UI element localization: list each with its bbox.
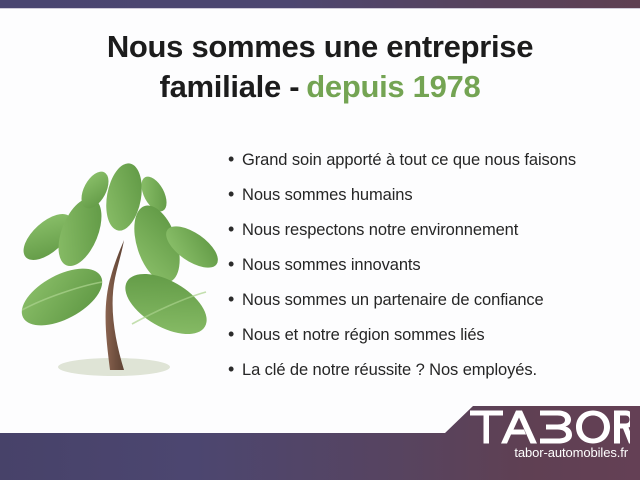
tree-trunk	[106, 240, 124, 370]
list-item: • Nous et notre région sommes liés	[228, 325, 628, 360]
bullet-marker-icon: •	[228, 360, 242, 378]
list-item: • Nous sommes un partenaire de confiance	[228, 290, 628, 325]
list-item-label: Nous sommes humains	[242, 187, 413, 204]
logo-tagline: tabor-automobiles.fr	[470, 445, 630, 460]
list-item-label: Nous sommes innovants	[242, 257, 421, 274]
bullet-marker-icon: •	[228, 185, 242, 203]
bullet-marker-icon: •	[228, 220, 242, 238]
tree-svg	[14, 152, 226, 388]
brand-logo: tabor-automobiles.fr	[470, 410, 635, 472]
slide-canvas: Nous sommes une entreprise familiale -de…	[0, 0, 640, 480]
bullet-marker-icon: •	[228, 290, 242, 308]
bullet-marker-icon: •	[228, 150, 242, 168]
bullet-marker-icon: •	[228, 325, 242, 343]
list-item-label: Grand soin apporté à tout ce que nous fa…	[242, 152, 576, 169]
list-item-label: Nous sommes un partenaire de confiance	[242, 292, 544, 309]
page-title-line-2-plain: familiale -	[160, 69, 300, 104]
family-tree-illustration	[14, 152, 226, 388]
list-item-label: La clé de notre réussite ? Nos employés.	[242, 362, 537, 379]
page-title-line-1: Nous sommes une entreprise	[0, 27, 640, 67]
page-title-since-year: depuis 1978	[306, 69, 480, 104]
list-item: • La clé de notre réussite ? Nos employé…	[228, 360, 628, 395]
top-accent-hairline	[0, 8, 640, 9]
list-item: • Grand soin apporté à tout ce que nous …	[228, 150, 628, 185]
top-accent-bar	[0, 0, 640, 8]
list-item: • Nous sommes innovants	[228, 255, 628, 290]
benefits-list: • Grand soin apporté à tout ce que nous …	[228, 150, 628, 395]
page-title-line-2: familiale -depuis 1978	[0, 67, 640, 107]
list-item: • Nous sommes humains	[228, 185, 628, 220]
page-title: Nous sommes une entreprise familiale -de…	[0, 27, 640, 107]
bullet-marker-icon: •	[228, 255, 242, 273]
leaf-lower-left	[14, 257, 111, 337]
list-item-label: Nous respectons notre environnement	[242, 222, 518, 239]
list-item-label: Nous et notre région sommes liés	[242, 327, 485, 344]
list-item: • Nous respectons notre environnement	[228, 220, 628, 255]
logo-wordmark-icon	[470, 410, 630, 444]
